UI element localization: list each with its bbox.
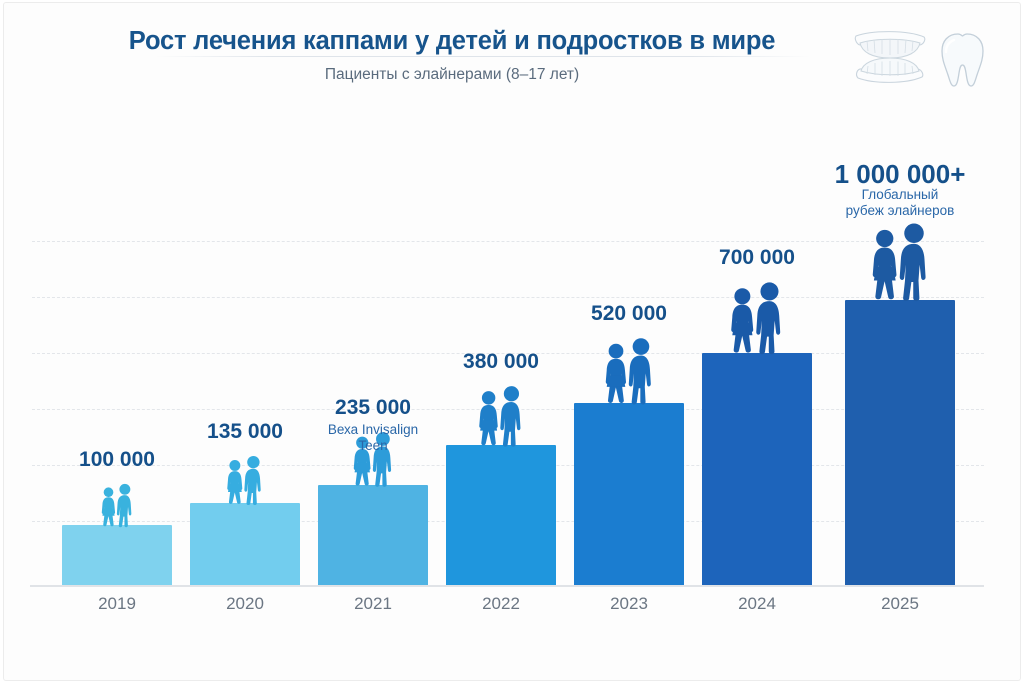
- bar-2025[interactable]: [845, 300, 955, 585]
- x-axis-line: [30, 585, 984, 587]
- bar-value-label-2025: 1 000 000+: [785, 159, 1015, 190]
- x-axis-label-2024: 2024: [702, 594, 812, 614]
- bar-annotation-2021: Веха Invisalign Teen: [283, 422, 463, 454]
- bar-2022[interactable]: [446, 445, 556, 585]
- bar-2021[interactable]: [318, 485, 428, 585]
- infographic-canvas: Рост лечения каппами у детей и подростко…: [0, 0, 1024, 683]
- bar-chart: 100 000 135 000 235 000Веха Invisalign T…: [0, 0, 1024, 683]
- x-axis-label-2021: 2021: [318, 594, 428, 614]
- x-axis-label-2019: 2019: [62, 594, 172, 614]
- bar-value-label-2023: 520 000: [514, 302, 744, 326]
- bar-annotation-2025: Глобальный рубеж элайнеров: [810, 187, 990, 219]
- people-figures-2024: [725, 281, 789, 356]
- people-figures-2019: [98, 483, 137, 528]
- bar-value-label-2019: 100 000: [2, 448, 232, 472]
- bar-value-label-2024: 700 000: [642, 246, 872, 270]
- x-axis-label-2022: 2022: [446, 594, 556, 614]
- bar-2019[interactable]: [62, 525, 172, 585]
- gridline: [32, 297, 984, 298]
- x-axis-label-2023: 2023: [574, 594, 684, 614]
- people-figures-2025: [866, 222, 935, 303]
- bar-2024[interactable]: [702, 353, 812, 585]
- bar-value-label-2021: 235 000: [258, 396, 488, 420]
- people-figures-2020: [223, 455, 267, 506]
- bar-value-label-2022: 380 000: [386, 350, 616, 374]
- gridline: [32, 241, 984, 242]
- x-axis-label-2020: 2020: [190, 594, 300, 614]
- bar-2020[interactable]: [190, 503, 300, 585]
- people-figures-2023: [600, 337, 659, 406]
- people-figures-2022: [474, 385, 528, 448]
- x-axis-label-2025: 2025: [845, 594, 955, 614]
- bar-2023[interactable]: [574, 403, 684, 585]
